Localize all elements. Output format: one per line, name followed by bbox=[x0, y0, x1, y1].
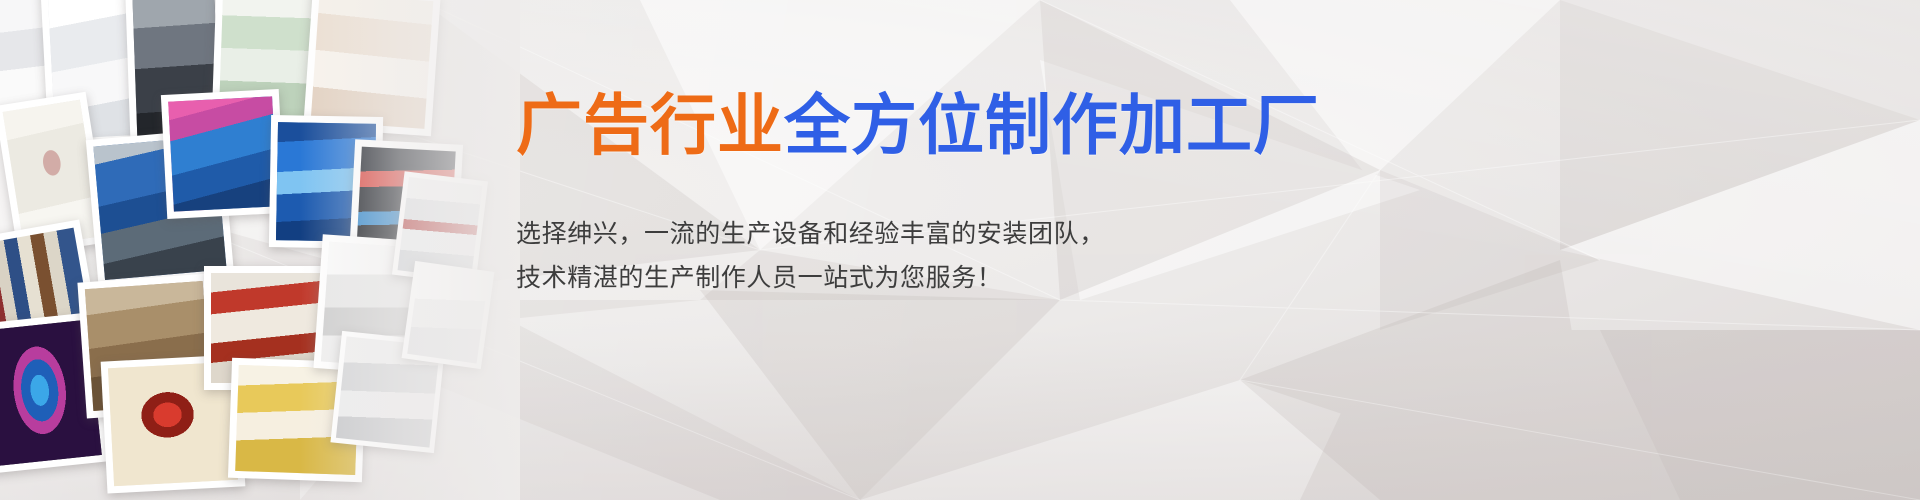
subtitle-line-1: 选择绅兴，一流的生产设备和经验丰富的安装团队， bbox=[516, 212, 1676, 256]
headline-highlight-blue: 全方位制作加工厂 bbox=[784, 87, 1320, 164]
subtitle-line-2: 技术精湛的生产制作人员一站式为您服务！ bbox=[516, 256, 1676, 300]
collage-photo-white-card bbox=[402, 261, 495, 369]
banner-copy: 广告行业全方位制作加工厂 选择绅兴，一流的生产设备和经验丰富的安装团队， 技术精… bbox=[516, 88, 1676, 300]
photo-collage bbox=[0, 0, 448, 500]
promo-banner: 广告行业全方位制作加工厂 选择绅兴，一流的生产设备和经验丰富的安装团队， 技术精… bbox=[0, 0, 1920, 500]
page-title: 广告行业全方位制作加工厂 bbox=[516, 88, 1676, 164]
banner-subtitle: 选择绅兴，一流的生产设备和经验丰富的安装团队， 技术精湛的生产制作人员一站式为您… bbox=[516, 164, 1676, 300]
headline-highlight-orange: 广告行业 bbox=[516, 87, 784, 164]
collage-photo-pink-blue-lightbox bbox=[161, 89, 285, 219]
